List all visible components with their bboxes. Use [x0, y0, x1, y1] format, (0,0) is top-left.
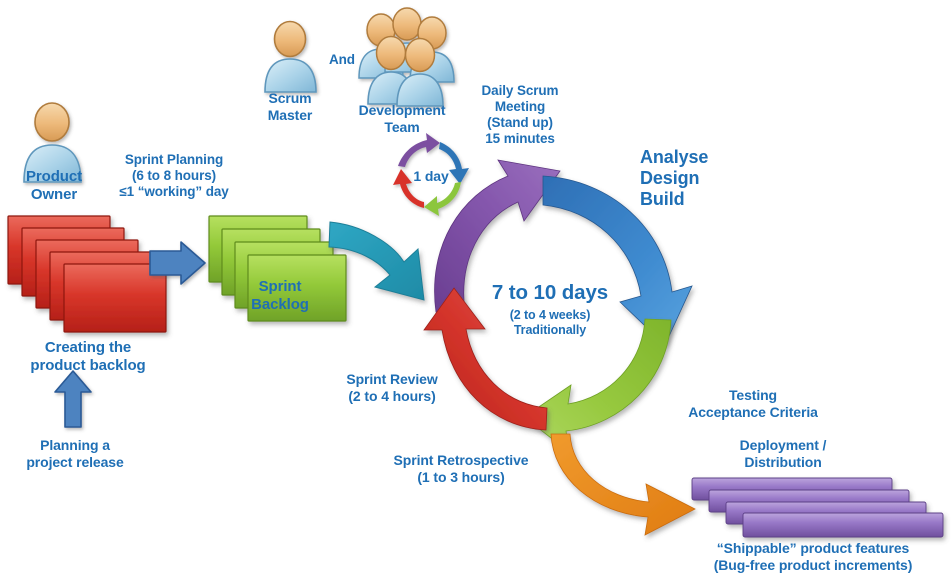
scrum-diagram-canvas: Product Owner Scrum Master And Developme…: [0, 0, 951, 582]
sprint-duration-sub-label: (2 to 4 weeks) Traditionally: [476, 308, 624, 338]
sprint-planning-label: Sprint Planning (6 to 8 hours) ≤1 “worki…: [94, 152, 254, 200]
analyse-design-build-label: Analyse Design Build: [640, 147, 760, 211]
and-connector-label: And: [320, 52, 364, 68]
shippable-increment-bar-stack: [692, 478, 943, 537]
one-day-label: 1 day: [404, 168, 458, 185]
development-team-label: Development Team: [346, 102, 458, 135]
sprint-backlog-label: Sprint Backlog: [230, 278, 330, 313]
deployment-label: Deployment / Distribution: [718, 437, 848, 470]
planning-release-label: Planning a project release: [10, 437, 140, 470]
product-backlog-card-stack: [8, 216, 166, 332]
product-backlog-label: Creating the product backlog: [13, 339, 163, 374]
cycle-segment-green-arrow: [524, 319, 671, 452]
sprint-intake-arrow: [329, 222, 424, 300]
sprint-duration-label: 7 to 10 days: [470, 281, 630, 305]
scrum-master-person-icon: [265, 22, 316, 93]
testing-label: Testing Acceptance Criteria: [668, 387, 838, 420]
development-team-people-group-icon: [359, 8, 454, 106]
release-planning-up-arrow: [55, 371, 91, 427]
deployment-out-arrow: [551, 434, 695, 535]
daily-scrum-label: Daily Scrum Meeting (Stand up) 15 minute…: [455, 83, 585, 147]
shippable-increment-label: “Shippable” product features (Bug-free p…: [680, 540, 946, 573]
sprint-review-label: Sprint Review (2 to 4 hours): [318, 371, 466, 404]
product-owner-label: Product Owner: [0, 168, 108, 203]
backlog-to-sprint-backlog-arrow: [150, 242, 205, 284]
scrum-master-label: Scrum Master: [240, 90, 340, 123]
sprint-retrospective-label: Sprint Retrospective (1 to 3 hours): [371, 452, 551, 485]
